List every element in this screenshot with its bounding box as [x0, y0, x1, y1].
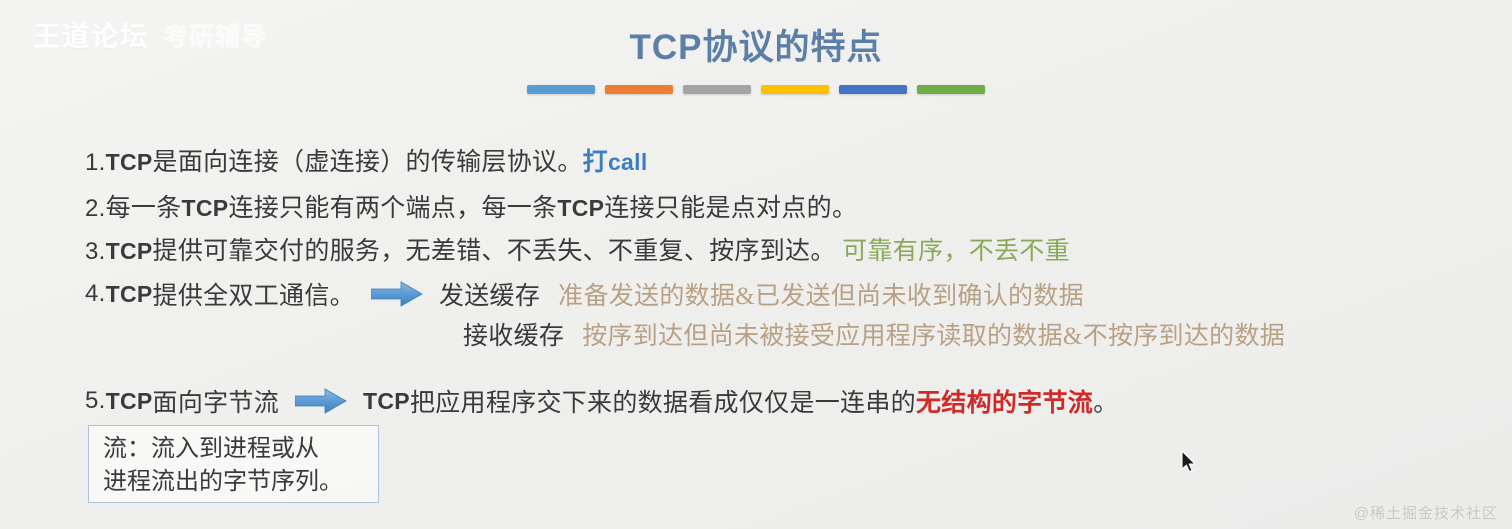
bullet-point-4-receive-row: 接收缓存 按序到达但尚未被接受应用程序读取的数据&不按序到达的数据 [463, 316, 1285, 352]
bullet-point-5: 5.TCP面向字节流 TCP把应用程序交下来的数据看成仅仅是一连串的无结构的字节… [85, 383, 1118, 419]
bullet-5-desc-text: 把应用程序交下来的数据看成仅仅是一连串的 [410, 383, 916, 419]
watermark-bottom-right: @稀土掘金技术社区 [1354, 502, 1498, 523]
definition-line-2: 进程流出的字节序列。 [103, 466, 366, 499]
bullet-4-number: 4. [85, 280, 106, 308]
bullet-4-text: 提供全双工通信。 [153, 276, 355, 312]
bullet-2-number: 2. [85, 195, 106, 222]
bullet-5-desc-tail: 。 [1093, 383, 1118, 419]
bullet-2-text-c: 连接只能是点对点的。 [604, 195, 857, 222]
receive-buffer-label: 接收缓存 [463, 316, 564, 352]
bullet-point-2: 2.每一条TCP连接只能有两个端点，每一条TCP连接只能是点对点的。 [85, 188, 857, 224]
page-title-cjk: 协议的特点 [702, 28, 882, 67]
send-buffer-label: 发送缓存 [439, 276, 540, 312]
bullet-3-annotation: 可靠有序，不丢不重 [842, 238, 1070, 265]
slide-canvas: 王道论坛 考研辅导 TCP协议的特点 1.TCP是面向连接（虚连接）的传输层协议… [0, 0, 1512, 529]
bullet-5-desc-highlight: 无结构的字节流 [916, 383, 1093, 419]
bullet-5-latin: TCP [106, 388, 153, 415]
bullet-2-latin-b: TCP [557, 195, 604, 221]
right-arrow-icon [371, 281, 423, 307]
bullet-5-text: 面向字节流 [153, 383, 280, 419]
bullet-2-latin-a: TCP [182, 195, 229, 221]
page-title: TCP协议的特点 [0, 19, 1512, 70]
bullet-1-number: 1. [85, 149, 106, 176]
bullet-3-text: 提供可靠交付的服务，无差错、不丢失、不重复、按序到达。 [153, 238, 836, 265]
receive-buffer-description: 按序到达但尚未被接受应用程序读取的数据&不按序到达的数据 [582, 316, 1285, 352]
bar-orange [605, 85, 673, 94]
divider-bars [527, 85, 985, 94]
bullet-5-number: 5. [85, 387, 106, 415]
bar-green [917, 85, 985, 94]
bar-darkblue [839, 85, 907, 94]
bullet-1-annotation-latin: call [608, 149, 648, 175]
definition-callout-box: 流：流入到进程或从 进程流出的字节序列。 [88, 425, 379, 503]
bar-gray [683, 85, 751, 94]
bullet-1-text: 是面向连接（虚连接）的传输层协议。 [153, 149, 583, 176]
right-arrow-icon-2 [295, 388, 347, 414]
bullet-4-latin: TCP [106, 281, 153, 308]
bullet-3-latin: TCP [106, 238, 153, 264]
mouse-cursor-icon [1180, 450, 1200, 476]
bullet-point-4: 4.TCP提供全双工通信。 发送缓存 准备发送的数据&已发送但尚未收到确认的数据 [85, 276, 1084, 312]
bullet-point-3: 3.TCP提供可靠交付的服务，无差错、不丢失、不重复、按序到达。 可靠有序，不丢… [85, 231, 1070, 267]
bar-blue [527, 85, 595, 94]
bullet-1-latin: TCP [106, 149, 153, 175]
page-title-latin: TCP [629, 28, 702, 67]
definition-line-1: 流：流入到进程或从 [103, 433, 366, 466]
bullet-point-1: 1.TCP是面向连接（虚连接）的传输层协议。打call [85, 142, 648, 178]
send-buffer-description: 准备发送的数据&已发送但尚未收到确认的数据 [558, 276, 1084, 312]
bar-yellow [761, 85, 829, 94]
bullet-2-text-a: 每一条 [106, 195, 182, 222]
bullet-5-desc-latin: TCP [363, 388, 410, 415]
bullet-1-annotation-cjk: 打 [583, 149, 608, 176]
bullet-3-number: 3. [85, 238, 106, 265]
bullet-2-text-b: 连接只能有两个端点，每一条 [228, 195, 557, 222]
